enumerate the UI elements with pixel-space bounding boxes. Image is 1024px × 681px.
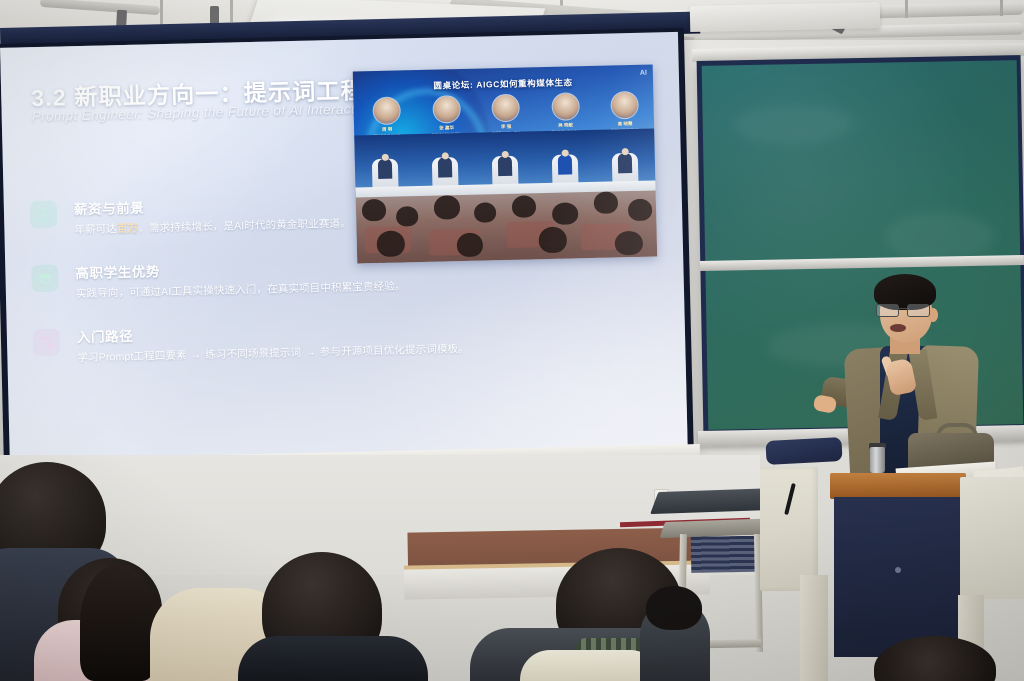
bullet-text-after: ，需求持续增长，是AI时代的黄金职业赛道。 — [138, 218, 351, 235]
slide-embedded-photo: 圆桌论坛: AIGC如何重构媒体生态 AI 周 明 某科技集团 副总裁 张 嘉华… — [353, 64, 657, 263]
panelist: 周 明 某科技集团 副总裁 — [371, 96, 402, 138]
bullet-body: 实践导向，可通过AI工具实操快速入门，在真实项目中积累宝贵经验。 — [76, 277, 452, 301]
lectern-post-left — [800, 575, 828, 681]
panelist-name: 高 晓霞 — [618, 121, 633, 127]
lectern-side-right — [960, 477, 1024, 599]
eyeglasses-icon — [876, 304, 930, 315]
thermos-flask — [870, 447, 885, 473]
pipe-hanger-2 — [230, 0, 233, 22]
stage-seat — [548, 146, 583, 187]
pipe-hanger-1 — [160, 0, 163, 26]
arrow-icon: → — [301, 346, 320, 358]
avatar — [491, 94, 520, 123]
panelist-name: 张 嘉华 — [439, 125, 454, 131]
money-bag-icon: ¥ — [30, 201, 58, 229]
path-step-1: 学习Prompt工程四要素 — [77, 350, 187, 365]
lectern-side-left — [760, 467, 818, 591]
stage-seat — [428, 149, 463, 190]
path-step-2: 练习不同场景提示词 — [205, 347, 301, 361]
pipe-hanger-4 — [905, 0, 908, 18]
projection-screen: 3.2 新职业方向一：提示词工程师 Prompt Engineer: Shapi… — [0, 28, 694, 474]
stage-seat — [488, 148, 523, 189]
projection-screen-roller — [690, 2, 881, 32]
bullet-highlight: 百万 — [117, 223, 139, 235]
lectern-post-right — [958, 595, 984, 681]
avatar — [372, 96, 401, 125]
classroom-photo: 3.2 新职业方向一：提示词工程师 Prompt Engineer: Shapi… — [0, 0, 1024, 681]
lectern — [760, 455, 1024, 681]
panelist-name: 李 强 — [501, 124, 511, 130]
path-step-3: 参与开源项目优化提示词模板。 — [320, 343, 469, 359]
lectern-pouch — [765, 437, 842, 465]
presentation-slide: 3.2 新职业方向一：提示词工程师 Prompt Engineer: Shapi… — [0, 32, 688, 467]
bullet-body: 学习Prompt工程四要素→练习不同场景提示词→参与开源项目优化提示词模板。 — [77, 341, 453, 365]
bullet-text-before: 年薪可达 — [74, 223, 117, 236]
avatar — [610, 91, 639, 120]
stage-seat — [368, 150, 403, 191]
photo-logo: AI — [640, 70, 647, 77]
stand-base — [675, 639, 761, 648]
arrow-icon: → — [187, 349, 206, 361]
bullet-entry-path: 入门路径 学习Prompt工程四要素→练习不同场景提示词→参与开源项目优化提示词… — [33, 317, 454, 366]
panelist: 张 嘉华 数字媒体研究院 院长 — [431, 95, 462, 137]
lectern-front-panel — [834, 497, 962, 657]
lectern-knob[interactable] — [895, 567, 901, 573]
pipe-hanger-5 — [1000, 0, 1003, 16]
graduation-cap-icon — [31, 265, 59, 293]
stand-leg — [678, 534, 687, 646]
stage-seat — [608, 145, 643, 186]
route-path-icon — [33, 329, 61, 357]
lectern-wood-trim — [830, 473, 966, 499]
svg-text:¥: ¥ — [42, 213, 45, 219]
panelist-name: 周 明 — [382, 127, 392, 133]
panelist-name: 吴 晓敏 — [558, 122, 573, 128]
avatar — [551, 92, 580, 121]
presenter-mouth — [890, 324, 906, 332]
photo-audience — [356, 190, 657, 263]
avatar — [432, 95, 461, 124]
screen-frame: 3.2 新职业方向一：提示词工程师 Prompt Engineer: Shapi… — [0, 28, 694, 474]
